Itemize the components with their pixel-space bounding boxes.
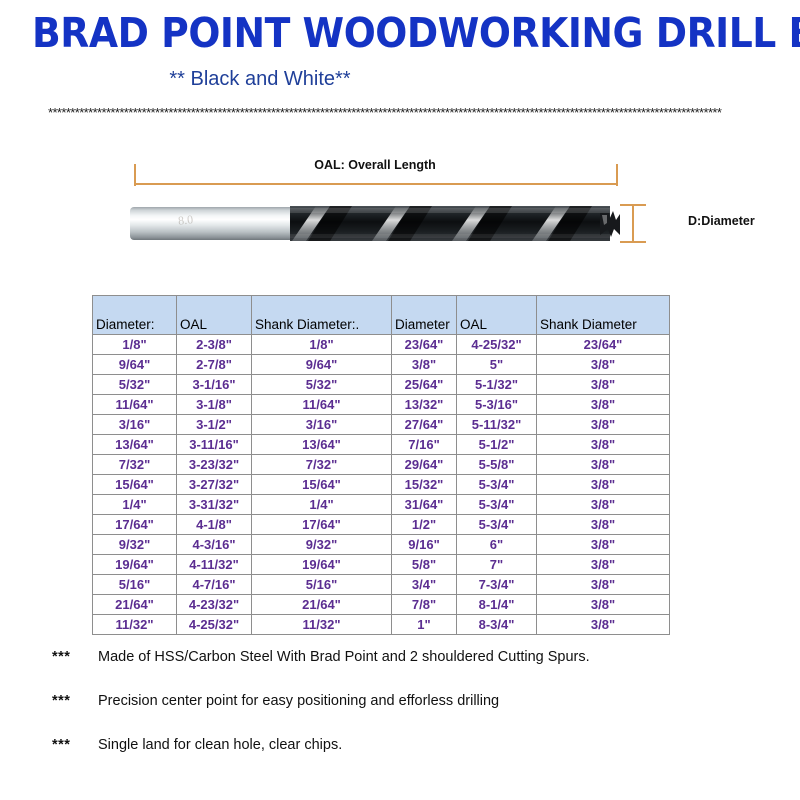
table-cell: 17/64" — [93, 515, 177, 535]
table-row: 15/64"3-27/32"15/64"15/32"5-3/4"3/8" — [93, 475, 670, 495]
table-row: 13/64"3-11/16"13/64"7/16"5-1/2"3/8" — [93, 435, 670, 455]
page-subtitle: ** Black and White** — [0, 66, 520, 92]
table-cell: 5-3/4" — [457, 495, 537, 515]
table-cell: 3/8" — [537, 355, 670, 375]
oal-tick-left-icon — [134, 164, 136, 186]
column-header-diameter-1: Diameter: — [93, 296, 177, 335]
table-cell: 8-3/4" — [457, 615, 537, 635]
table-cell: 3-31/32" — [177, 495, 252, 515]
table-cell: 1/8" — [252, 335, 392, 355]
table-cell: 3-1/8" — [177, 395, 252, 415]
table-cell: 9/16" — [392, 535, 457, 555]
table-cell: 5-1/32" — [457, 375, 537, 395]
table-cell: 3/4" — [392, 575, 457, 595]
column-header-shank-2: Shank Diameter — [537, 296, 670, 335]
table-cell: 3/8" — [537, 515, 670, 535]
table-cell: 3/8" — [537, 555, 670, 575]
table-header-row: Diameter: OAL Shank Diameter:. Diameter … — [93, 296, 670, 335]
table-row: 11/32"4-25/32"11/32"1"8-3/4"3/8" — [93, 615, 670, 635]
oal-dimension-label: OAL: Overall Length — [135, 158, 615, 172]
table-cell: 4-23/32" — [177, 595, 252, 615]
bullet-text: Precision center point for easy position… — [98, 693, 499, 709]
table-cell: 15/32" — [392, 475, 457, 495]
table-cell: 9/64" — [93, 355, 177, 375]
bullet-text: Single land for clean hole, clear chips. — [98, 737, 342, 753]
table-row: 11/64"3-1/8"11/64"13/32"5-3/16"3/8" — [93, 395, 670, 415]
table-cell: 3/16" — [252, 415, 392, 435]
table-cell: 4-25/32" — [177, 615, 252, 635]
column-header-oal-2: OAL — [457, 296, 537, 335]
bullet-marker: *** — [52, 693, 70, 709]
diameter-tick-top-icon — [620, 204, 646, 206]
table-cell: 3/8" — [392, 355, 457, 375]
table-cell: 5-11/32" — [457, 415, 537, 435]
diameter-tick-bottom-icon — [620, 241, 646, 243]
table-cell: 3-27/32" — [177, 475, 252, 495]
table-cell: 4-11/32" — [177, 555, 252, 575]
drill-bit-spec-table: Diameter: OAL Shank Diameter:. Diameter … — [92, 295, 670, 635]
table-cell: 3/8" — [537, 575, 670, 595]
table-cell: 3/8" — [537, 615, 670, 635]
bullet-marker: *** — [52, 649, 70, 665]
table-cell: 9/32" — [93, 535, 177, 555]
table-cell: 6" — [457, 535, 537, 555]
table-cell: 13/64" — [93, 435, 177, 455]
table-cell: 11/64" — [252, 395, 392, 415]
table-cell: 3/8" — [537, 495, 670, 515]
table-cell: 3/8" — [537, 435, 670, 455]
table-cell: 1/4" — [93, 495, 177, 515]
table-cell: 7/32" — [252, 455, 392, 475]
table-cell: 4-25/32" — [457, 335, 537, 355]
table-cell: 5-3/4" — [457, 475, 537, 495]
column-header-diameter-2: Diameter — [392, 296, 457, 335]
brad-point-tip — [600, 211, 622, 237]
table-cell: 7" — [457, 555, 537, 575]
table-cell: 11/64" — [93, 395, 177, 415]
table-cell: 5/8" — [392, 555, 457, 575]
table-row: 9/32"4-3/16"9/32"9/16"6"3/8" — [93, 535, 670, 555]
table-cell: 5" — [457, 355, 537, 375]
table-cell: 3/8" — [537, 415, 670, 435]
table-cell: 4-7/16" — [177, 575, 252, 595]
table-cell: 27/64" — [392, 415, 457, 435]
table-cell: 7/8" — [392, 595, 457, 615]
page-title: BRAD POINT WOODWORKING DRILL BITS — [32, 10, 768, 56]
table-cell: 19/64" — [93, 555, 177, 575]
table-cell: 21/64" — [252, 595, 392, 615]
table-cell: 5-3/4" — [457, 515, 537, 535]
drill-bit-diagram: OAL: Overall Length 8.0 — [0, 150, 800, 290]
table-cell: 3/8" — [537, 535, 670, 555]
table-cell: 3/8" — [537, 475, 670, 495]
table-cell: 1/8" — [93, 335, 177, 355]
table-cell: 31/64" — [392, 495, 457, 515]
list-item: *** Single land for clean hole, clear ch… — [0, 733, 800, 777]
table-row: 17/64"4-1/8"17/64"1/2"5-3/4"3/8" — [93, 515, 670, 535]
column-header-shank-1: Shank Diameter:. — [252, 296, 392, 335]
oal-dimension-line — [134, 183, 618, 185]
table-row: 19/64"4-11/32"19/64"5/8"7"3/8" — [93, 555, 670, 575]
table-cell: 7-3/4" — [457, 575, 537, 595]
table-cell: 5-5/8" — [457, 455, 537, 475]
list-item: *** Precision center point for easy posi… — [0, 689, 800, 733]
table-cell: 5-1/2" — [457, 435, 537, 455]
table-row: 9/64"2-7/8"9/64"3/8"5"3/8" — [93, 355, 670, 375]
table-row: 1/4"3-31/32"1/4"31/64"5-3/4"3/8" — [93, 495, 670, 515]
table-row: 5/32"3-1/16"5/32"25/64"5-1/32"3/8" — [93, 375, 670, 395]
table-cell: 25/64" — [392, 375, 457, 395]
table-cell: 2-7/8" — [177, 355, 252, 375]
table-cell: 3/8" — [537, 375, 670, 395]
table-cell: 7/32" — [93, 455, 177, 475]
table-cell: 29/64" — [392, 455, 457, 475]
table-cell: 3-23/32" — [177, 455, 252, 475]
table-row: 7/32"3-23/32"7/32"29/64"5-5/8"3/8" — [93, 455, 670, 475]
table-cell: 3-1/2" — [177, 415, 252, 435]
list-item: *** Made of HSS/Carbon Steel With Brad P… — [0, 645, 800, 689]
table-cell: 19/64" — [252, 555, 392, 575]
table-cell: 9/32" — [252, 535, 392, 555]
table-cell: 3-11/16" — [177, 435, 252, 455]
table-cell: 4-3/16" — [177, 535, 252, 555]
table-cell: 11/32" — [93, 615, 177, 635]
table-cell: 5/32" — [252, 375, 392, 395]
table-cell: 17/64" — [252, 515, 392, 535]
table-cell: 1/4" — [252, 495, 392, 515]
table-cell: 13/32" — [392, 395, 457, 415]
diameter-dimension-label: D:Diameter — [688, 214, 755, 228]
table-cell: 15/64" — [252, 475, 392, 495]
table-cell: 4-1/8" — [177, 515, 252, 535]
table-row: 3/16"3-1/2"3/16"27/64"5-11/32"3/8" — [93, 415, 670, 435]
table-cell: 5/16" — [252, 575, 392, 595]
table-cell: 21/64" — [93, 595, 177, 615]
table-cell: 2-3/8" — [177, 335, 252, 355]
table-cell: 3/16" — [93, 415, 177, 435]
oal-tick-right-icon — [616, 164, 618, 186]
drill-bit-illustration: 8.0 — [130, 197, 622, 245]
table-cell: 15/64" — [93, 475, 177, 495]
table-cell: 9/64" — [252, 355, 392, 375]
table-cell: 23/64" — [537, 335, 670, 355]
table-row: 5/16"4-7/16"5/16"3/4"7-3/4"3/8" — [93, 575, 670, 595]
table-cell: 3/8" — [537, 395, 670, 415]
bullet-marker: *** — [52, 737, 70, 753]
column-header-oal-1: OAL — [177, 296, 252, 335]
table-cell: 7/16" — [392, 435, 457, 455]
table-row: 1/8"2-3/8"1/8"23/64"4-25/32"23/64" — [93, 335, 670, 355]
table-cell: 3/8" — [537, 595, 670, 615]
table-cell: 1/2" — [392, 515, 457, 535]
table-cell: 3-1/16" — [177, 375, 252, 395]
table-cell: 5/32" — [93, 375, 177, 395]
bullet-text: Made of HSS/Carbon Steel With Brad Point… — [98, 649, 590, 665]
asterisk-divider: ****************************************… — [48, 104, 760, 122]
table-cell: 23/64" — [392, 335, 457, 355]
table-row: 21/64"4-23/32"21/64"7/8"8-1/4"3/8" — [93, 595, 670, 615]
feature-bullet-list: *** Made of HSS/Carbon Steel With Brad P… — [0, 645, 800, 777]
table-cell: 5-3/16" — [457, 395, 537, 415]
table-cell: 3/8" — [537, 455, 670, 475]
table-cell: 5/16" — [93, 575, 177, 595]
table-cell: 11/32" — [252, 615, 392, 635]
diameter-dimension-line — [632, 204, 634, 242]
table-cell: 13/64" — [252, 435, 392, 455]
table-cell: 1" — [392, 615, 457, 635]
table-cell: 8-1/4" — [457, 595, 537, 615]
drill-flutes — [290, 203, 610, 244]
